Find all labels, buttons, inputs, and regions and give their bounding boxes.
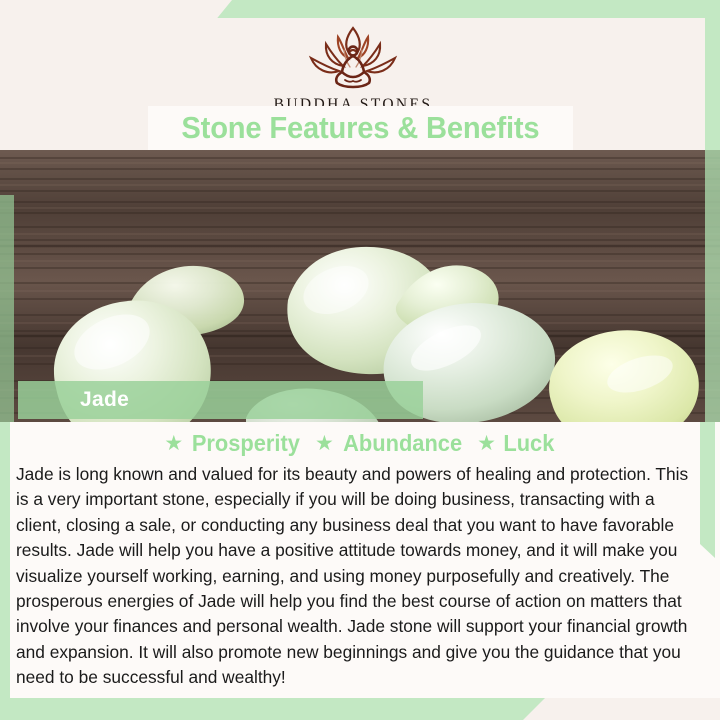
photo-left-green-accent — [0, 195, 14, 423]
content-left-green-accent — [0, 422, 10, 698]
lotus-meditation-icon — [297, 20, 409, 92]
benefits-row: ★ Prosperity ★ Abundance ★ Luck — [0, 430, 720, 457]
stone-info-poster: BUDDHA STONES Stone Features & Benefits — [0, 0, 720, 720]
star-icon: ★ — [315, 433, 334, 454]
stone-description: Jade is long known and valued for its be… — [16, 462, 698, 691]
benefit-item-luck: ★ Luck — [477, 430, 556, 457]
photo-right-green-accent — [705, 150, 720, 422]
brand-logo: BUDDHA STONES — [0, 20, 706, 114]
star-icon: ★ — [477, 433, 496, 454]
page-title-banner: Stone Features & Benefits — [148, 106, 573, 150]
star-icon: ★ — [164, 433, 183, 454]
benefit-label: Luck — [503, 430, 554, 457]
benefit-label: Prosperity — [192, 430, 300, 457]
benefit-label: Abundance — [343, 430, 462, 457]
stone-name-band: Jade — [18, 381, 423, 419]
benefit-item-abundance: ★ Abundance — [315, 430, 465, 457]
stone-name-label: Jade — [80, 388, 129, 412]
page-title: Stone Features & Benefits — [181, 110, 539, 146]
bottom-green-accent-band — [0, 698, 545, 720]
benefit-item-prosperity: ★ Prosperity — [164, 430, 303, 457]
